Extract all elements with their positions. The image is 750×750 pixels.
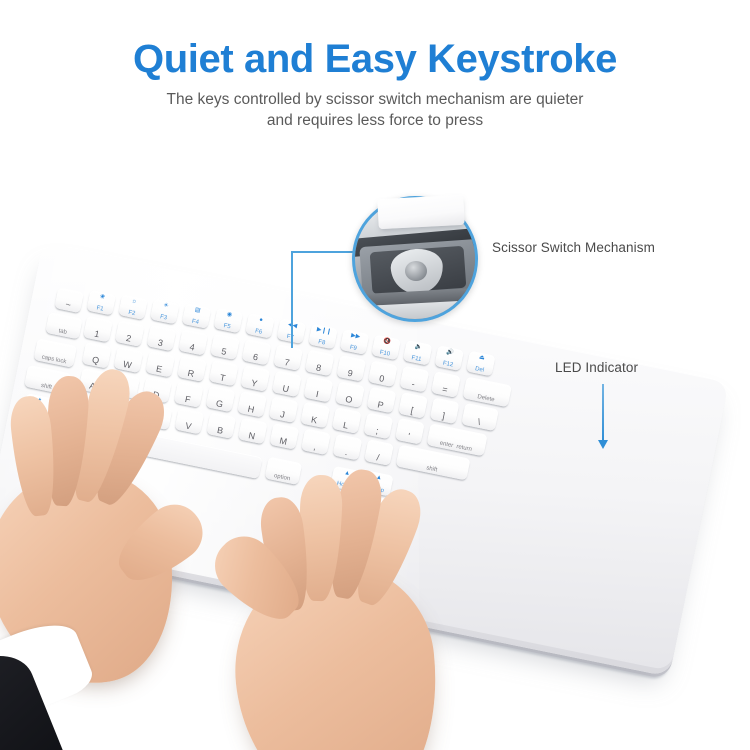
- key-delete-big: Delete: [462, 377, 511, 408]
- key-label: ~: [65, 299, 72, 310]
- key-label: 8: [315, 362, 322, 373]
- key-label: F11: [411, 355, 422, 363]
- key-label: 1: [94, 328, 101, 339]
- callout-line-vertical: [291, 252, 293, 348]
- brightness-icon: ☀: [163, 302, 169, 309]
- grid-icon: ▤: [194, 307, 201, 314]
- marketing-banner: Quiet and Easy Keystroke The keys contro…: [0, 0, 750, 750]
- key-backslash: \: [461, 403, 499, 431]
- subtitle-line-2: and requires less force to press: [0, 111, 750, 132]
- key-label: =: [441, 384, 448, 395]
- key-label: F10: [379, 350, 390, 358]
- callout-label-led-indicator: LED Indicator: [555, 360, 638, 375]
- key-bracket-right: ]: [430, 397, 460, 424]
- eject-icon: ⏏: [479, 354, 486, 361]
- mute-icon: 🔇: [383, 338, 392, 345]
- play-pause-icon: ▶❙❙: [316, 326, 332, 335]
- key-label: F6: [255, 328, 263, 335]
- keycap-overlay: [377, 195, 464, 229]
- key-label: 3: [157, 337, 164, 348]
- volume-down-icon: 🔈: [415, 343, 424, 350]
- bluetooth-icon: ❀: [99, 293, 105, 300]
- key-label: Del: [474, 366, 484, 374]
- page-subtitle: The keys controlled by scissor switch me…: [0, 90, 750, 132]
- callout-label-scissor-switch: Scissor Switch Mechanism: [492, 240, 655, 255]
- volume-up-icon: 🔊: [446, 349, 455, 356]
- media-icon: ●: [259, 317, 264, 324]
- key-del: ⏏ Del: [466, 351, 496, 377]
- key-label: F8: [318, 339, 326, 346]
- key-label: \: [477, 417, 481, 427]
- key-label: [: [410, 405, 414, 415]
- key-label: 9: [347, 368, 354, 379]
- key-label: 0: [378, 373, 385, 384]
- key-label: F3: [159, 314, 167, 321]
- key-label: F4: [191, 318, 199, 325]
- key-label: F1: [96, 305, 104, 312]
- key-label: F9: [349, 344, 357, 351]
- led-callout-arrow-head: [598, 440, 608, 449]
- key-label: Delete: [477, 394, 495, 403]
- brightness-icon: ☼: [131, 298, 138, 305]
- page-title: Quiet and Easy Keystroke: [0, 38, 750, 80]
- key-equal: =: [431, 371, 461, 398]
- key-label: 2: [125, 333, 132, 344]
- key-label: K: [310, 414, 318, 425]
- key-f12: 🔊 F12: [434, 345, 464, 371]
- key-label: tab: [58, 328, 67, 336]
- subtitle-line-1: The keys controlled by scissor switch me…: [0, 90, 750, 111]
- key-label: F2: [128, 310, 136, 317]
- key-label: L: [342, 420, 349, 431]
- key-label: O: [345, 394, 354, 405]
- key-label: F12: [442, 360, 453, 368]
- right-hand: [215, 435, 545, 750]
- led-callout-arrow-shaft: [602, 384, 604, 442]
- key-label: P: [377, 399, 385, 410]
- key-label: I: [315, 389, 319, 399]
- key-label: ]: [441, 410, 445, 420]
- key-label: -: [411, 379, 416, 389]
- forward-icon: ▶▶: [351, 332, 361, 340]
- rewind-icon: ◀◀: [287, 321, 297, 329]
- search-icon: ◉: [226, 311, 232, 318]
- key-label: F5: [223, 323, 231, 330]
